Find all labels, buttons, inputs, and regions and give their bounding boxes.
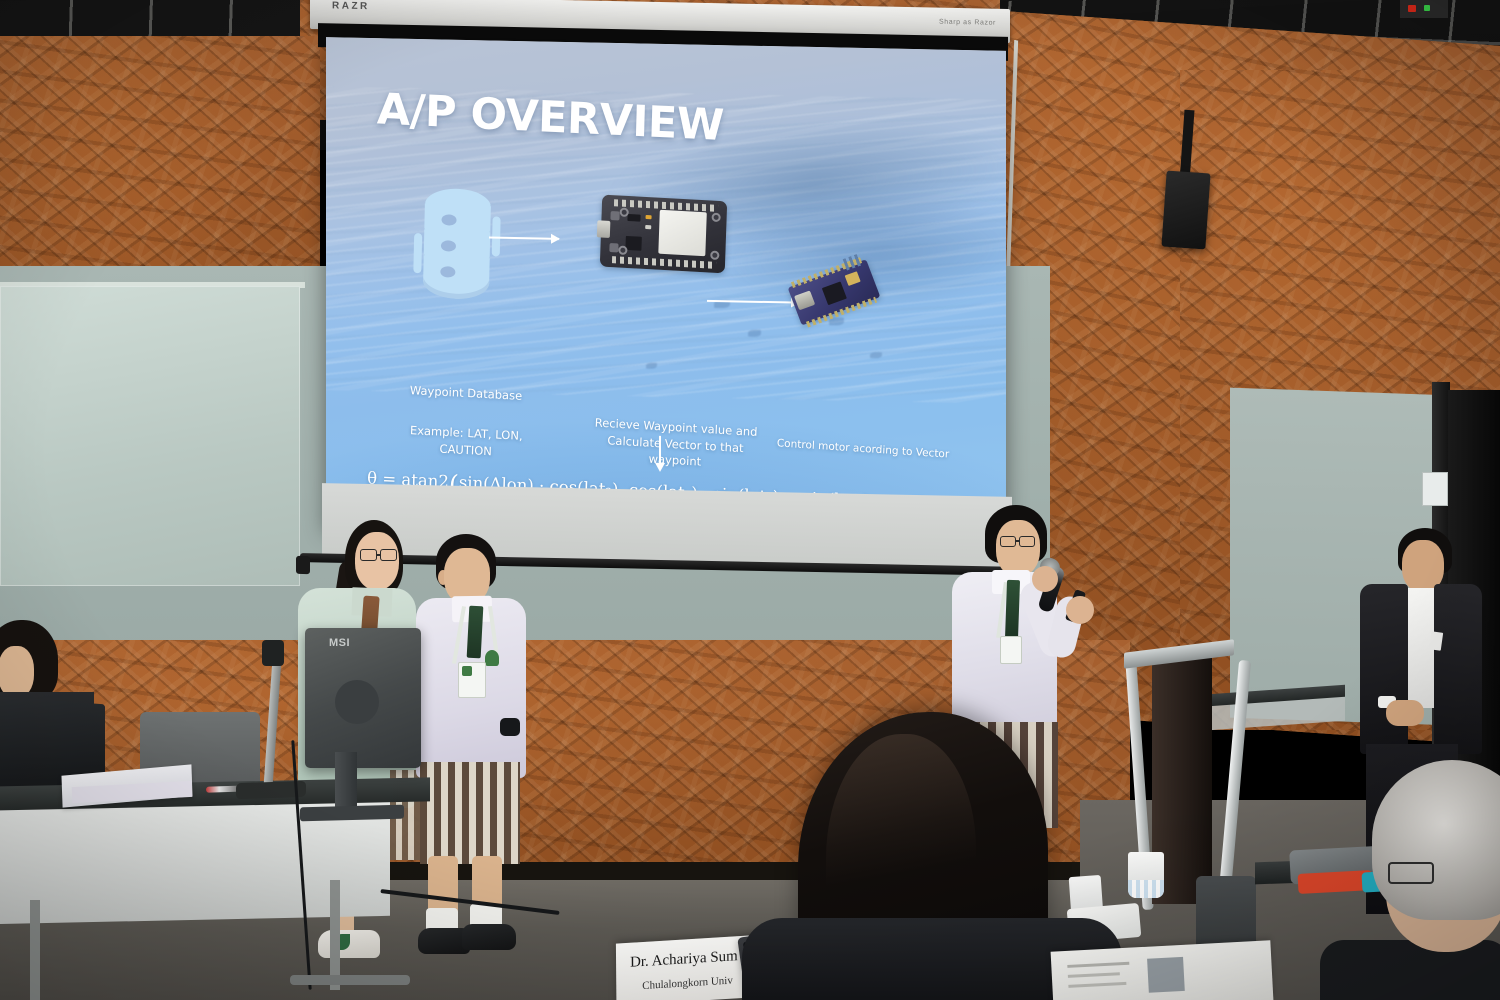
flow-arrow-down bbox=[659, 436, 661, 464]
placard-name: Dr. Achariya Sum bbox=[630, 948, 738, 972]
presenter-glasses bbox=[1019, 536, 1035, 547]
screen-tagline-label: Sharp as Razor bbox=[939, 19, 996, 27]
id-badge bbox=[1000, 636, 1022, 664]
staff-jacket bbox=[1360, 584, 1408, 754]
esp32-board-icon bbox=[600, 195, 727, 274]
presentation-room-photo: RAZR Sharp as Razor A/P OVERVIEW bbox=[0, 0, 1500, 1000]
student-boy-shorts bbox=[420, 762, 520, 864]
wall-sign bbox=[1422, 472, 1448, 506]
monitor-vesa-mount bbox=[335, 680, 379, 724]
caption-arduino-nano: Control motor acording to Vector bbox=[768, 436, 958, 464]
monitor-brand-label: MSI bbox=[329, 637, 350, 649]
monitor-stand-base bbox=[300, 805, 404, 822]
handout-paper[interactable] bbox=[1051, 940, 1274, 1000]
staff-hands bbox=[1386, 700, 1424, 726]
paper-cup-pattern bbox=[1128, 880, 1164, 898]
handout-text-line bbox=[1068, 972, 1120, 978]
caption-esp32: Recieve Waypoint value and Calculate Vec… bbox=[587, 414, 764, 474]
screen-bar-cap-left bbox=[296, 556, 310, 574]
student-girl-glasses bbox=[360, 549, 377, 561]
microphone-capsule-icon bbox=[262, 640, 284, 666]
id-badge bbox=[458, 662, 486, 698]
senior-judge-glasses bbox=[1388, 862, 1434, 884]
whiteboard bbox=[0, 286, 300, 586]
school-crest-icon bbox=[485, 650, 499, 666]
projected-slide: A/P OVERVIEW bbox=[326, 37, 1006, 541]
staff-jacket bbox=[1434, 584, 1482, 754]
student-girl-face bbox=[355, 532, 399, 590]
fish-silhouette bbox=[870, 352, 882, 358]
badge-logo-icon bbox=[462, 666, 472, 676]
staff-pocket-square bbox=[1429, 631, 1443, 650]
fish-silhouette bbox=[748, 330, 761, 337]
status-led-green bbox=[1424, 5, 1430, 11]
senior-judge-body bbox=[1320, 940, 1500, 1000]
screen-brand-label: RAZR bbox=[332, 0, 370, 12]
student-girl-glasses-bridge bbox=[377, 554, 381, 556]
student-boy-shoe bbox=[462, 924, 516, 950]
placard-affiliation: Chulalongkorn Univ bbox=[642, 975, 733, 993]
presenter-hand bbox=[1032, 566, 1058, 592]
desk-foot bbox=[290, 975, 410, 985]
student-girl-glasses bbox=[380, 549, 397, 561]
desk-leg bbox=[330, 880, 340, 990]
fish-silhouette bbox=[646, 362, 657, 368]
caption-waypoint-example: Example: LAT, LON, CAUTION bbox=[390, 421, 541, 462]
presenter-tie bbox=[1005, 580, 1020, 640]
status-led-red bbox=[1408, 5, 1416, 12]
presenter-glasses bbox=[1000, 536, 1016, 547]
desk-leg bbox=[30, 900, 40, 1000]
presenter-face bbox=[996, 520, 1040, 576]
handout-text-line bbox=[1068, 982, 1126, 988]
presenter-glasses-bridge bbox=[1016, 540, 1020, 542]
slide-canvas: A/P OVERVIEW bbox=[326, 37, 1006, 541]
student-boy-tie bbox=[467, 606, 484, 659]
presenter-hand bbox=[1066, 596, 1094, 624]
seated-operator-face bbox=[0, 646, 34, 698]
handout-text-line bbox=[1067, 962, 1129, 968]
database-icon bbox=[413, 187, 501, 301]
handout-figure bbox=[1147, 957, 1185, 993]
monitor-stand-neck bbox=[335, 752, 357, 814]
ceiling-speaker bbox=[1161, 171, 1210, 250]
wristwatch bbox=[500, 718, 520, 736]
